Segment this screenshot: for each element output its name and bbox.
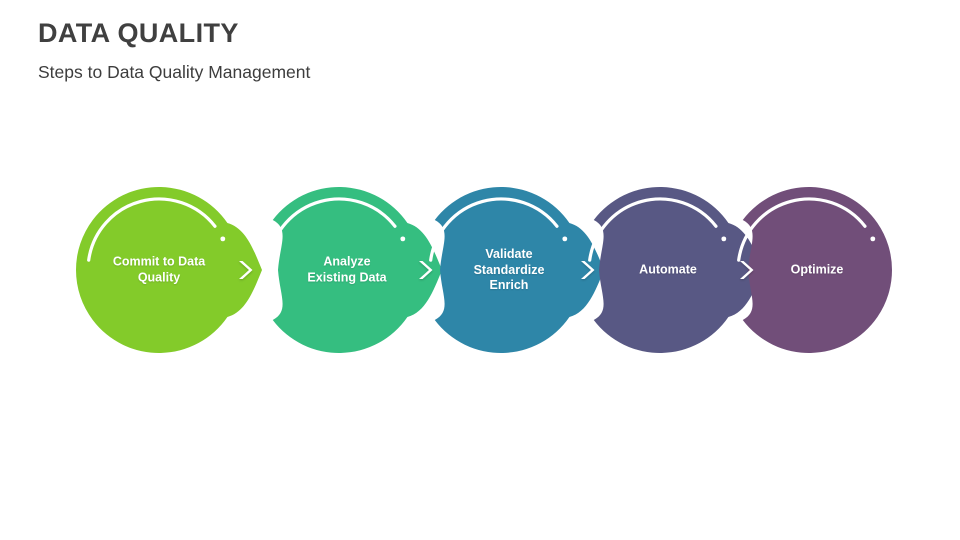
chevron-right-icon-1 <box>239 261 253 279</box>
step-shapes-layer <box>76 187 892 353</box>
step-label-2: Analyze Existing Data <box>307 255 386 286</box>
step-shape-4[interactable] <box>594 187 763 353</box>
slide-header: DATA QUALITY Steps to Data Quality Manag… <box>38 16 898 84</box>
arc-highlight-icon-1 <box>89 199 215 260</box>
step-arc-highlights-layer <box>89 199 876 260</box>
arc-highlight-icon-4 <box>590 199 716 260</box>
chevron-right-icon-4 <box>740 261 754 279</box>
page-subtitle: Steps to Data Quality Management <box>38 60 898 84</box>
arc-end-dot-icon-3 <box>562 236 567 241</box>
step-label-4: Automate <box>639 262 697 278</box>
arc-highlight-icon-5 <box>739 199 865 260</box>
chevron-right-icon-2 <box>419 261 433 279</box>
arc-end-dot-icon-1 <box>220 236 225 241</box>
arc-end-dot-icon-2 <box>400 236 405 241</box>
step-label-1: Commit to Data Quality <box>113 255 205 286</box>
arc-end-dot-icon-4 <box>721 236 726 241</box>
arc-highlight-icon-2 <box>269 199 395 260</box>
chevron-right-icon-3 <box>581 261 595 279</box>
arc-highlight-icon-3 <box>431 199 557 260</box>
step-shape-1[interactable] <box>76 187 262 353</box>
step-shape-5[interactable] <box>743 187 892 353</box>
step-shape-3[interactable] <box>435 187 604 353</box>
step-label-3: Validate Standardize Enrich <box>474 247 545 294</box>
step-arrows-layer <box>239 261 754 279</box>
step-label-5: Optimize <box>791 262 844 278</box>
arc-end-dot-icon-5 <box>870 236 875 241</box>
step-shape-2[interactable] <box>273 187 442 353</box>
slide-canvas: DATA QUALITY Steps to Data Quality Manag… <box>0 0 960 540</box>
page-title: DATA QUALITY <box>38 16 898 50</box>
